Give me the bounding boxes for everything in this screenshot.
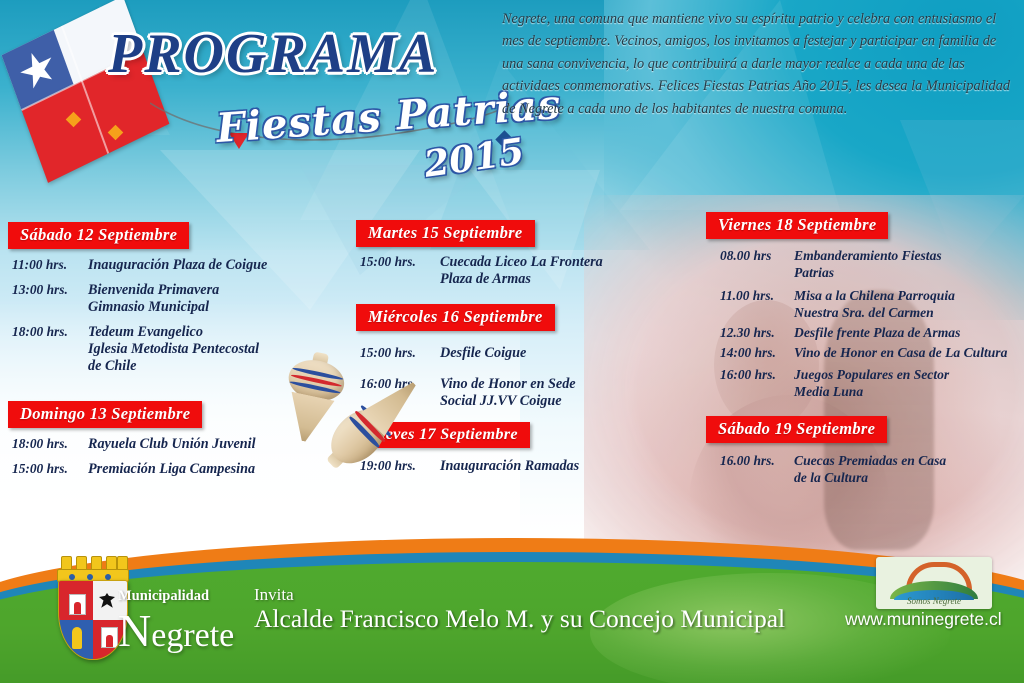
event-description: Inauguración Plaza de Coigue (88, 257, 328, 274)
event-description: Desfile Coigue (440, 345, 656, 362)
event-description: Bienvenida Primavera Gimnasio Municipal (88, 282, 328, 316)
event-time: 15:00 hrs. (8, 461, 88, 478)
event-description: Juegos Populares en Sector Media Luna (794, 367, 1024, 400)
day-banner-domingo-13: Domingo 13 Septiembre (8, 401, 202, 428)
event-time: 16:00 hrs. (706, 367, 794, 400)
event-description: Premiación Liga Campesina (88, 461, 328, 478)
alcalde-line: Alcalde Francisco Melo M. y su Concejo M… (254, 604, 785, 634)
day-banner-miercoles-16: Miércoles 16 Septiembre (356, 304, 555, 331)
event-row: 12.30 hrs. Desfile frente Plaza de Armas (706, 325, 1024, 342)
event-time: 15:00 hrs. (356, 254, 440, 288)
event-row: 18:00 hrs. Tedeum Evangelico Iglesia Met… (8, 324, 328, 375)
day-banner-martes-15: Martes 15 Septiembre (356, 220, 535, 247)
event-time: 15:00 hrs. (356, 345, 440, 362)
day-banner-sabado-19: Sábado 19 Septiembre (706, 416, 887, 443)
event-row: 15:00 hrs. Cuecada Liceo La Frontera Pla… (356, 254, 656, 288)
somos-negrete-logo: Somos Negrete (876, 557, 992, 609)
event-row: 15:00 hrs. Premiación Liga Campesina (8, 461, 328, 478)
event-description: Cuecas Premiadas en Casa de la Cultura (794, 453, 1024, 486)
municipalidad-label: Municipalidad (118, 588, 209, 605)
event-time: 12.30 hrs. (706, 325, 794, 342)
event-row: 16:00 hrs. Juegos Populares en Sector Me… (706, 367, 1024, 400)
website-link[interactable]: www.muninegrete.cl (845, 609, 1002, 630)
event-row: 16.00 hrs. Cuecas Premiadas en Casa de l… (706, 453, 1024, 486)
crown-icon (57, 556, 127, 582)
event-row: 13:00 hrs. Bienvenida Primavera Gimnasio… (8, 282, 328, 316)
day-banner-sabado-12: Sábado 12 Septiembre (8, 222, 189, 249)
negrete-initial: N (118, 605, 151, 656)
event-time: 14:00 hrs. (706, 345, 794, 362)
event-description: Embanderamiento Fiestas Patrias (794, 248, 1024, 281)
schedule-column-3: Viernes 18 Septiembre 08.00 hrs Embander… (706, 212, 1024, 486)
event-time: 08.00 hrs (706, 248, 794, 281)
event-row: 11:00 hrs. Inauguración Plaza de Coigue (8, 257, 328, 274)
event-description: Vino de Honor en Sede Social JJ.VV Coigu… (440, 376, 656, 410)
negrete-wordmark: Negrete (118, 604, 234, 657)
somos-negrete-label: Somos Negrete (876, 596, 992, 606)
event-description: Cuecada Liceo La Frontera Plaza de Armas (440, 254, 656, 288)
event-description: Desfile frente Plaza de Armas (794, 325, 1024, 342)
invita-label: Invita (254, 585, 294, 605)
event-row: 14:00 hrs. Vino de Honor en Casa de La C… (706, 345, 1024, 362)
event-time: 13:00 hrs. (8, 282, 88, 316)
event-time: 11.00 hrs. (706, 288, 794, 321)
event-description: Misa a la Chilena Parroquia Nuestra Sra.… (794, 288, 1024, 321)
event-time: 11:00 hrs. (8, 257, 88, 274)
day-banner-viernes-18: Viernes 18 Septiembre (706, 212, 888, 239)
event-time: 18:00 hrs. (8, 324, 88, 375)
negrete-rest: egrete (151, 617, 234, 654)
event-row: 08.00 hrs Embanderamiento Fiestas Patria… (706, 248, 1024, 281)
event-description: Inauguración Ramadas (440, 458, 656, 475)
intro-paragraph: Negrete, una comuna que mantiene vivo su… (502, 8, 1010, 120)
event-description: Vino de Honor en Casa de La Cultura (794, 345, 1024, 362)
page-title-programa: PROGRAMA (108, 22, 438, 86)
poster-canvas: PROGRAMA Fiestas Patrias 2015 Negrete, u… (0, 0, 1024, 683)
event-row: 11.00 hrs. Misa a la Chilena Parroquia N… (706, 288, 1024, 321)
event-time: 18:00 hrs. (8, 436, 88, 453)
event-row: 15:00 hrs. Desfile Coigue (356, 345, 656, 362)
event-time: 16.00 hrs. (706, 453, 794, 486)
